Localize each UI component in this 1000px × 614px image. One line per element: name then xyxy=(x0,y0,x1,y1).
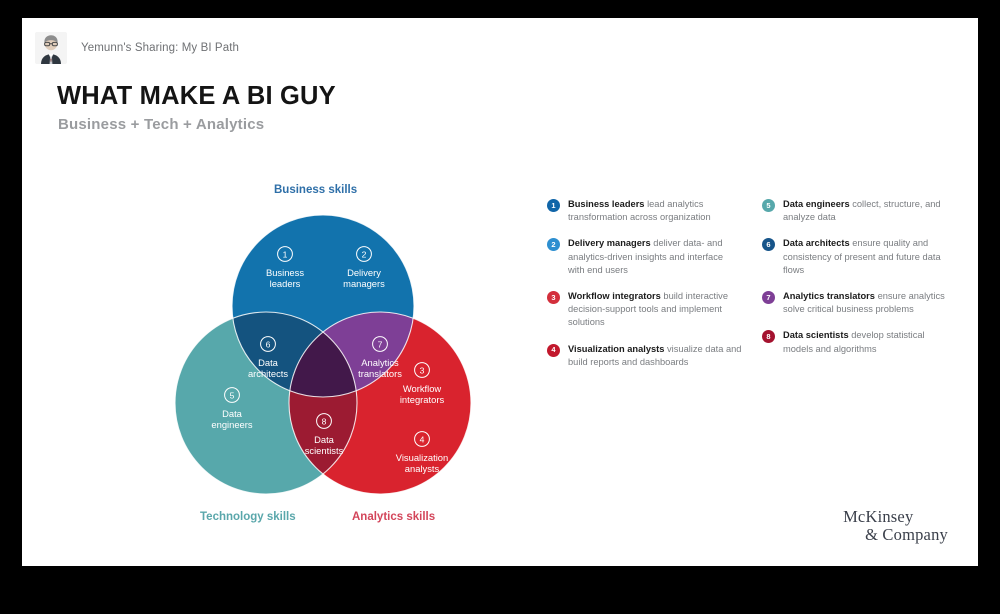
legend-item: 2 Delivery managers deliver data- and an… xyxy=(547,237,742,277)
venn-num-7: 7 xyxy=(378,339,383,349)
venn-num-1: 1 xyxy=(283,249,288,259)
mckinsey-logo: McKinsey & Company xyxy=(843,508,948,544)
legend-bold-3: Workflow integrators xyxy=(568,291,661,301)
venn-label-2-line1: Delivery xyxy=(347,267,381,278)
venn-label-8-line1: Data xyxy=(314,434,335,445)
venn-label-5-line1: Data xyxy=(222,408,243,419)
legend-bold-1: Business leaders xyxy=(568,199,644,209)
venn-num-8: 8 xyxy=(322,416,327,426)
legend-text-1: Business leaders lead analytics transfor… xyxy=(568,198,742,224)
venn-diagram: 1 Business leaders 2 Delivery managers 6… xyxy=(152,158,522,538)
legend-item: 6 Data architects ensure quality and con… xyxy=(762,237,957,277)
legend-badge-2: 2 xyxy=(547,238,560,251)
page-title: WHAT MAKE A BI GUY xyxy=(57,82,336,111)
legend-bold-8: Data scientists xyxy=(783,330,849,340)
slide-canvas: Yemunn's Sharing: My BI Path WHAT MAKE A… xyxy=(22,18,978,566)
legend-badge-3: 3 xyxy=(547,291,560,304)
legend-text-8: Data scientists develop statistical mode… xyxy=(783,329,957,355)
screenshot-root: Yemunn's Sharing: My BI Path WHAT MAKE A… xyxy=(0,0,1000,614)
legend-item: 5 Data engineers collect, structure, and… xyxy=(762,198,957,224)
venn-num-2: 2 xyxy=(362,249,367,259)
venn-label-8-line2: scientists xyxy=(305,445,344,456)
legend-badge-1: 1 xyxy=(547,199,560,212)
venn-label-1-line2: leaders xyxy=(270,278,301,289)
legend-column-right: 5 Data engineers collect, structure, and… xyxy=(762,198,957,382)
legend-badge-5: 5 xyxy=(762,199,775,212)
venn-num-4: 4 xyxy=(420,434,425,444)
venn-label-4-line1: Visualization xyxy=(396,452,448,463)
logo-line-2: & Company xyxy=(843,526,948,544)
venn-label-6-line1: Data xyxy=(258,357,279,368)
legend-column-left: 1 Business leaders lead analytics transf… xyxy=(547,198,742,382)
legend-badge-8: 8 xyxy=(762,330,775,343)
byline: Yemunn's Sharing: My BI Path xyxy=(35,31,239,65)
legend-text-5: Data engineers collect, structure, and a… xyxy=(783,198,957,224)
venn-caption-technology: Technology skills xyxy=(200,511,296,523)
venn-label-6-line2: architects xyxy=(248,368,288,379)
venn-label-4-line2: analysts xyxy=(405,463,440,474)
legend-bold-5: Data engineers xyxy=(783,199,850,209)
legend-item: 4 Visualization analysts visualize data … xyxy=(547,343,742,369)
legend-text-6: Data architects ensure quality and consi… xyxy=(783,237,957,277)
legend-text-3: Workflow integrators build interactive d… xyxy=(568,290,742,330)
page-subtitle: Business + Tech + Analytics xyxy=(58,116,264,133)
legend-badge-6: 6 xyxy=(762,238,775,251)
avatar xyxy=(35,32,67,64)
legend-bold-4: Visualization analysts xyxy=(568,344,664,354)
venn-label-7-line2: translators xyxy=(358,368,402,379)
venn-num-6: 6 xyxy=(266,339,271,349)
logo-line-1: McKinsey xyxy=(843,508,948,526)
venn-label-1-line1: Business xyxy=(266,267,304,278)
legend-item: 7 Analytics translators ensure analytics… xyxy=(762,290,957,316)
venn-caption-analytics: Analytics skills xyxy=(352,511,435,523)
venn-caption-business: Business skills xyxy=(274,184,357,196)
legend-item: 8 Data scientists develop statistical mo… xyxy=(762,329,957,355)
venn-label-3-line1: Workflow xyxy=(403,383,442,394)
legend-text-7: Analytics translators ensure analytics s… xyxy=(783,290,957,316)
venn-label-7-line1: Analytics xyxy=(361,357,399,368)
legend-badge-7: 7 xyxy=(762,291,775,304)
legend-badge-4: 4 xyxy=(547,344,560,357)
venn-label-2-line2: managers xyxy=(343,278,385,289)
legend-bold-2: Delivery managers xyxy=(568,238,651,248)
legend-item: 3 Workflow integrators build interactive… xyxy=(547,290,742,330)
legend-text-2: Delivery managers deliver data- and anal… xyxy=(568,237,742,277)
byline-text: Yemunn's Sharing: My BI Path xyxy=(81,42,239,54)
legend-bold-7: Analytics translators xyxy=(783,291,875,301)
venn-num-3: 3 xyxy=(420,365,425,375)
venn-label-5-line2: engineers xyxy=(211,419,252,430)
legend: 1 Business leaders lead analytics transf… xyxy=(547,198,957,382)
legend-text-4: Visualization analysts visualize data an… xyxy=(568,343,742,369)
venn-num-5: 5 xyxy=(230,390,235,400)
legend-item: 1 Business leaders lead analytics transf… xyxy=(547,198,742,224)
venn-svg: 1 Business leaders 2 Delivery managers 6… xyxy=(152,158,522,538)
legend-bold-6: Data architects xyxy=(783,238,850,248)
venn-label-3-line2: integrators xyxy=(400,394,445,405)
